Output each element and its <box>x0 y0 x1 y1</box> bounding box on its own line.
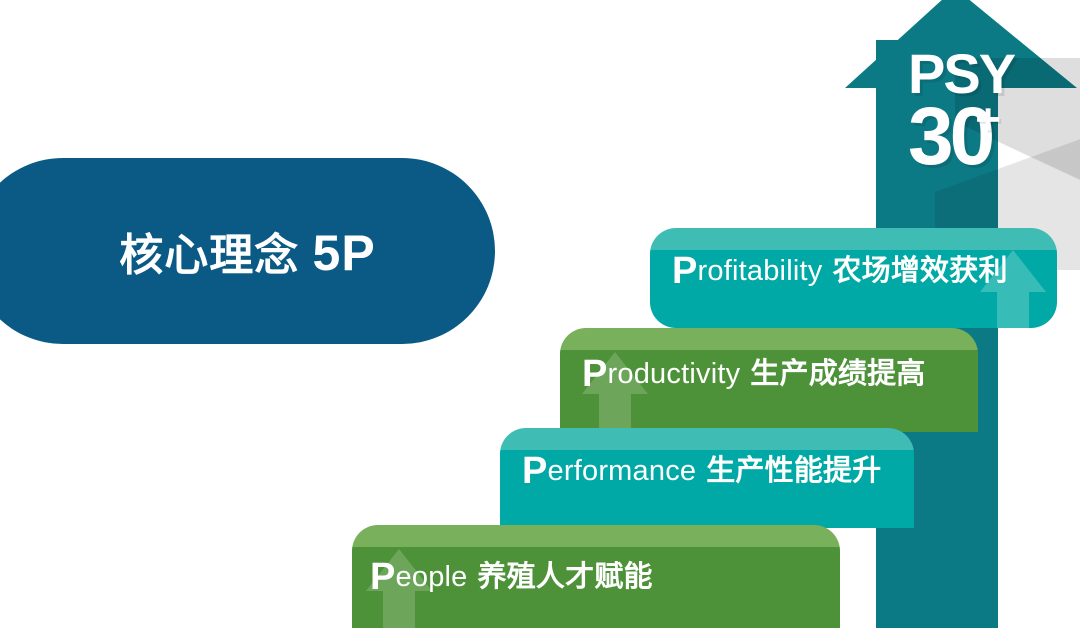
step-initial: P <box>672 250 698 292</box>
step-english-rest: erformance <box>548 455 697 487</box>
step-english-rest: eople <box>396 561 468 593</box>
step-initial: P <box>522 450 548 492</box>
page-title: 核心理念 5P <box>89 219 375 283</box>
step-profitability[interactable]: Profitability农场增效获利 <box>650 228 1057 328</box>
step-english-rest: roductivity <box>608 358 741 390</box>
page-title-number: 5P <box>313 225 376 281</box>
step-label-profitability: Profitability农场增效获利 <box>672 252 1008 290</box>
step-chinese: 生产性能提升 <box>706 455 881 487</box>
step-chinese: 农场增效获利 <box>832 255 1007 287</box>
step-cap <box>352 525 840 547</box>
psy-30-plus-logo: PSY 30 + <box>908 46 1058 178</box>
step-label-people: People养殖人才赋能 <box>370 558 653 596</box>
step-productivity[interactable]: Productivity生产成绩提高 <box>560 328 978 432</box>
step-chinese: 生产成绩提高 <box>750 358 925 390</box>
step-chinese: 养殖人才赋能 <box>478 561 653 593</box>
step-performance[interactable]: Performance生产性能提升 <box>500 428 914 528</box>
title-pill: 核心理念 5P <box>0 158 495 344</box>
step-initial: P <box>370 556 396 598</box>
step-initial: P <box>582 353 608 395</box>
logo-plus-icon: + <box>975 98 1000 142</box>
step-label-performance: Performance生产性能提升 <box>522 452 881 490</box>
step-english-rest: rofitability <box>698 255 823 287</box>
step-people[interactable]: People养殖人才赋能 <box>352 525 840 628</box>
slide-canvas: PSY 30 + Profitability农场增效获利 Productivit… <box>0 0 1080 628</box>
step-cap <box>650 228 1057 250</box>
step-cap <box>560 328 978 350</box>
page-title-chinese: 核心理念 <box>119 231 299 280</box>
step-cap <box>500 428 914 450</box>
step-label-productivity: Productivity生产成绩提高 <box>582 355 926 393</box>
